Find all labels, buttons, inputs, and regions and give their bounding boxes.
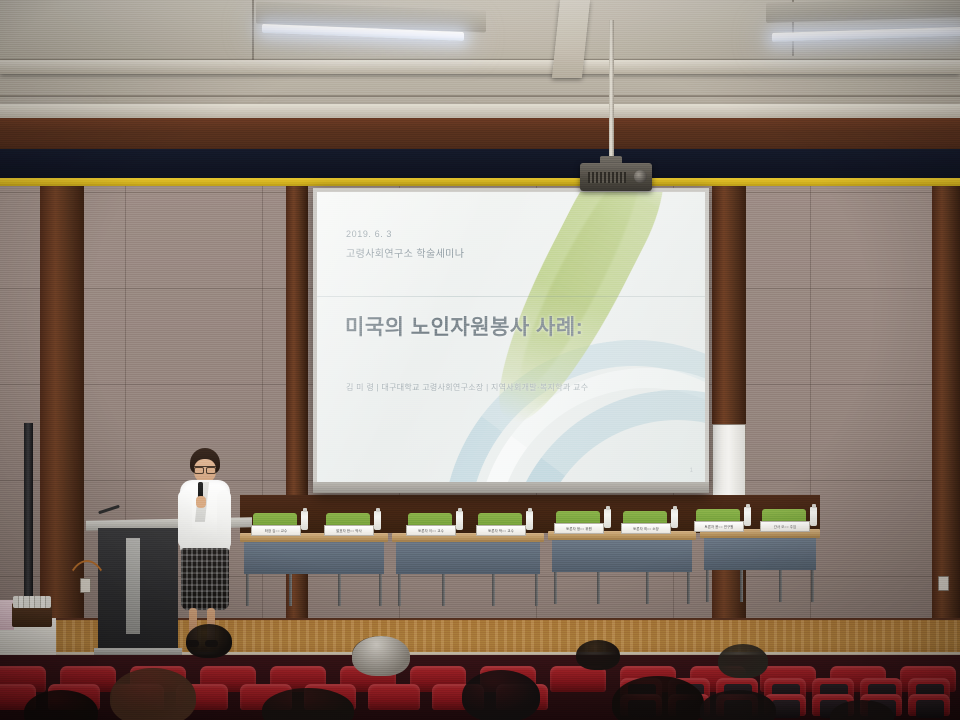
table-modesty-panel bbox=[704, 538, 816, 570]
wall-outlet-right bbox=[938, 576, 949, 591]
slide-page-number: 1 bbox=[690, 468, 693, 474]
name-placard: 좌장 김○○ 교수 bbox=[251, 525, 301, 536]
ceiling bbox=[0, 0, 960, 118]
auditorium-seat-back bbox=[772, 700, 800, 718]
presenter-skirt bbox=[181, 548, 229, 610]
water-bottle bbox=[374, 511, 381, 530]
table-leg bbox=[246, 574, 249, 606]
name-placard: 토론자 박○○ 교수 bbox=[476, 525, 526, 536]
auditorium-seat-back bbox=[916, 700, 944, 718]
table-leg bbox=[554, 572, 557, 604]
water-bottles bbox=[13, 596, 51, 608]
slide-title: 미국의 노인자원봉사 사례: bbox=[345, 311, 583, 341]
table-leg bbox=[442, 574, 445, 606]
table-leg bbox=[492, 574, 495, 606]
presenter-hand bbox=[196, 496, 206, 508]
table-leg bbox=[289, 574, 292, 606]
presenter-person bbox=[172, 448, 234, 650]
table-modesty-panel bbox=[396, 542, 540, 574]
water-bottle bbox=[671, 509, 678, 528]
presenter-right-arm bbox=[217, 490, 231, 550]
name-placard: 간사 오○○ 주임 bbox=[760, 521, 810, 532]
presenter-left-arm bbox=[178, 490, 192, 548]
audience-head bbox=[576, 640, 620, 670]
head-table-segment bbox=[548, 531, 696, 575]
projector-lens-icon bbox=[634, 170, 647, 183]
table-leg bbox=[338, 574, 341, 606]
slide-organizer: 고령사회연구소 학술세미나 bbox=[346, 245, 464, 260]
placard-text: 토론자 최○○ 소장 bbox=[633, 526, 659, 531]
ceiling-projector bbox=[580, 163, 652, 191]
name-placard: 토론자 최○○ 소장 bbox=[621, 523, 671, 534]
projection-screen: 2019. 6. 3 고령사회연구소 학술세미나 미국의 노인자원봉사 사례: … bbox=[313, 188, 709, 493]
presentation-slide: 2019. 6. 3 고령사회연구소 학술세미나 미국의 노인자원봉사 사례: … bbox=[317, 192, 705, 482]
head-table-segment bbox=[700, 529, 820, 573]
audience-head bbox=[462, 670, 540, 720]
table-leg bbox=[398, 574, 401, 606]
glasses-icon bbox=[194, 466, 216, 472]
name-placard: 토론자 정○○ 위원 bbox=[554, 523, 604, 534]
table-leg bbox=[706, 570, 709, 602]
audience-head bbox=[718, 644, 768, 678]
projector-mount-pole bbox=[609, 20, 614, 163]
table-modesty-panel bbox=[244, 542, 384, 574]
placard-text: 토론자 이○○ 교수 bbox=[418, 528, 444, 533]
table-leg bbox=[740, 570, 743, 602]
name-placard: 토론자 윤○○ 연구원 bbox=[694, 521, 744, 532]
audience-head bbox=[186, 624, 232, 658]
placard-text: 간사 오○○ 주임 bbox=[774, 524, 796, 529]
water-bottle bbox=[604, 509, 611, 528]
placard-text: 토론자 박○○ 교수 bbox=[488, 528, 514, 533]
table-modesty-panel bbox=[552, 540, 692, 572]
screen-bottom-bar bbox=[313, 482, 709, 493]
podium-inlay-panel bbox=[126, 538, 140, 634]
audience-head bbox=[110, 668, 196, 720]
water-bottle bbox=[301, 511, 308, 530]
table-leg bbox=[646, 572, 649, 604]
placard-text: 좌장 김○○ 교수 bbox=[265, 528, 287, 533]
slide-byline: 김 미 령 | 대구대학교 고령사회연구소장 | 지역사회개발·복지학과 교수 bbox=[346, 382, 588, 393]
table-leg bbox=[379, 574, 382, 606]
water-bottle bbox=[456, 511, 463, 530]
placard-text: 발표자 한○○ 박사 bbox=[336, 528, 362, 533]
table-leg bbox=[535, 574, 538, 606]
water-bottle bbox=[526, 511, 533, 530]
placard-text: 토론자 윤○○ 연구원 bbox=[705, 524, 734, 529]
water-bottle bbox=[744, 507, 751, 526]
audience-head-gray bbox=[352, 636, 410, 676]
navy-wall-band bbox=[0, 149, 960, 180]
floor-cable bbox=[62, 560, 112, 660]
head-table-segment bbox=[392, 533, 544, 577]
table-leg bbox=[597, 572, 600, 604]
head-table-segment bbox=[240, 533, 388, 577]
table-leg bbox=[687, 572, 690, 604]
table-leg bbox=[811, 570, 814, 602]
projector-vent bbox=[588, 172, 626, 183]
table-leg bbox=[779, 570, 782, 602]
name-placard: 발표자 한○○ 박사 bbox=[324, 525, 374, 536]
placard-text: 토론자 정○○ 위원 bbox=[566, 526, 592, 531]
seminar-hall-photo: 2019. 6. 3 고령사회연구소 학술세미나 미국의 노인자원봉사 사례: … bbox=[0, 0, 960, 720]
wood-column-right bbox=[932, 186, 960, 634]
slide-divider-line bbox=[317, 296, 705, 297]
auditorium-seat bbox=[368, 684, 420, 710]
name-placard: 토론자 이○○ 교수 bbox=[406, 525, 456, 536]
water-bottle bbox=[810, 507, 817, 526]
slide-date: 2019. 6. 3 bbox=[346, 229, 392, 239]
